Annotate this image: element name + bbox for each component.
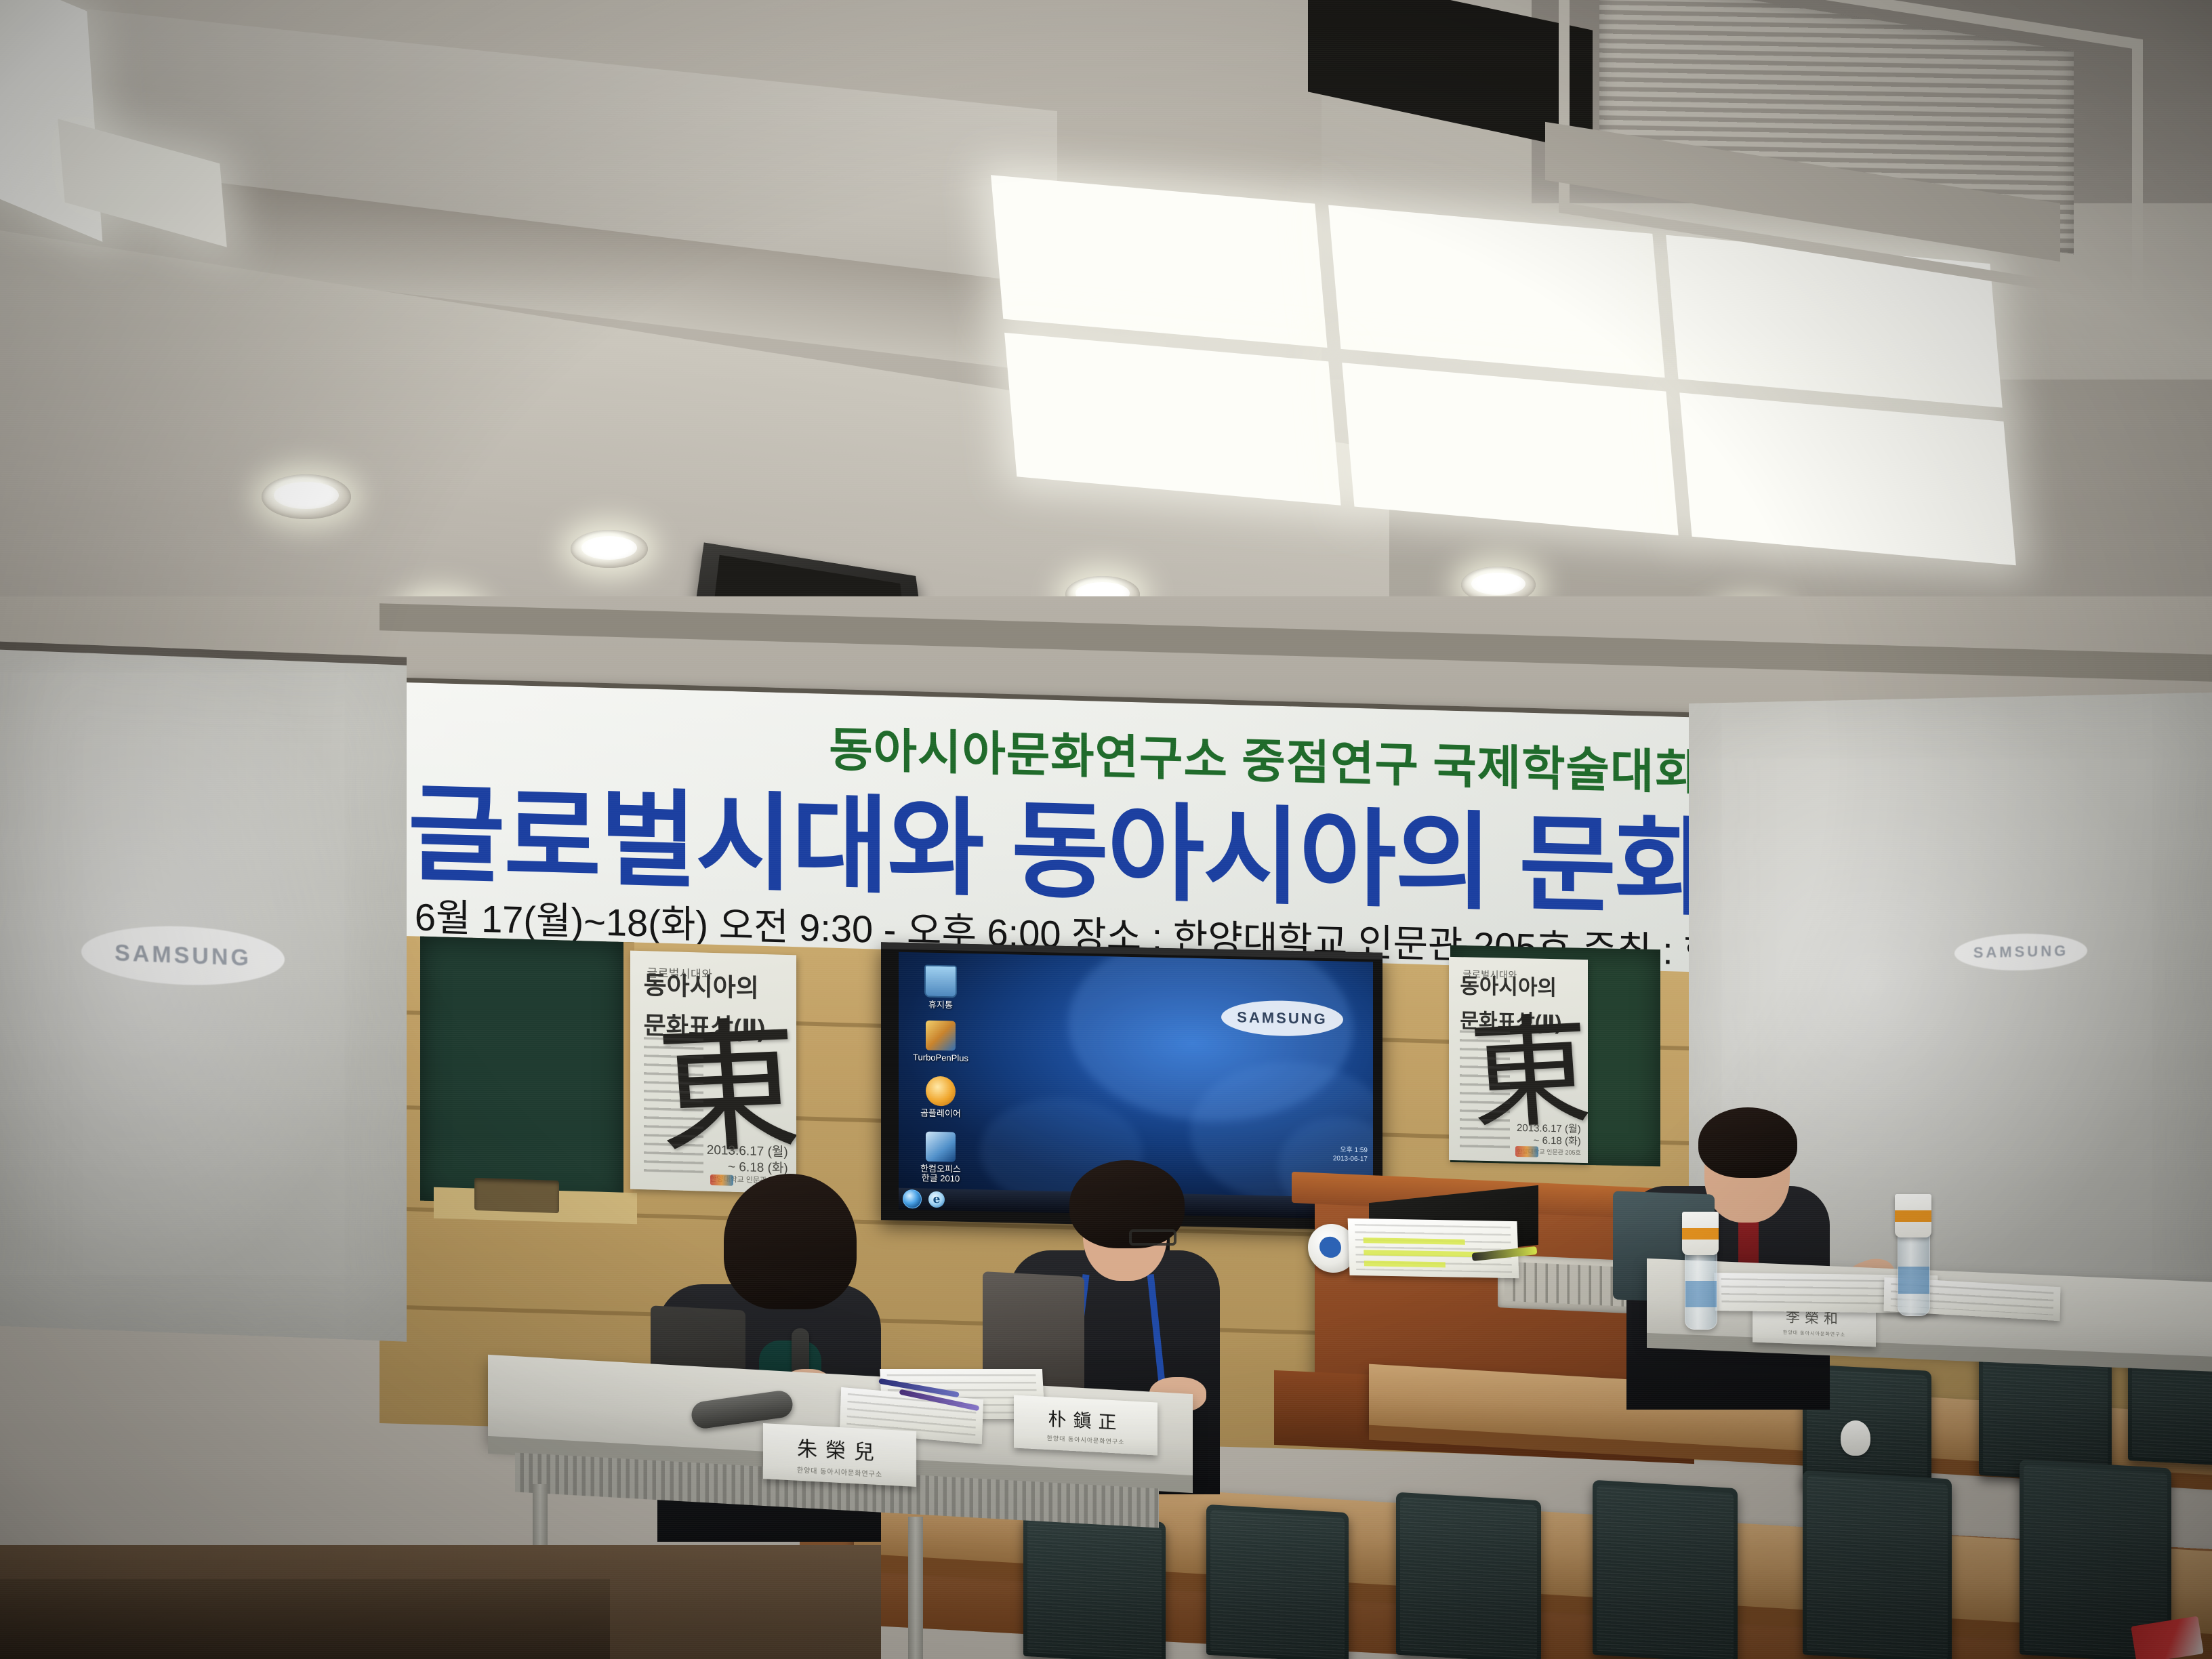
projection-screen-left: SAMSUNG — [0, 641, 407, 1341]
lecture-chair[interactable] — [1023, 1514, 1166, 1659]
podium-papers — [1348, 1218, 1519, 1278]
paper-cup[interactable] — [1682, 1212, 1719, 1255]
table-leg — [908, 1517, 923, 1659]
poster-title-line1: 동아시아의 — [1460, 975, 1557, 1000]
name-card-affiliation: 한양대 동아시아문화연구소 — [1783, 1329, 1845, 1338]
eyeglasses-icon — [1129, 1229, 1176, 1246]
desktop-icon-label: 곰플레이어 — [920, 1107, 961, 1118]
ceiling-panel-light — [1679, 392, 2015, 565]
water-bottle[interactable] — [1898, 1224, 1930, 1316]
desktop-icon-label: 한컴오피스 한글 2010 — [920, 1163, 961, 1184]
lecture-hall-photo: 동아시아문화연구소 중점연구 국제학술대회 글로벌시대와 동아시아의 문화표상(… — [0, 0, 2212, 1659]
ceiling-panel-light — [1004, 333, 1340, 506]
desktop-icon-hancom-hangul[interactable]: 한컴오피스 한글 2010 — [908, 1131, 973, 1185]
blackboard-left — [420, 937, 634, 1207]
name-card-affiliation: 한양대 동아시아문화연구소 — [1047, 1433, 1125, 1446]
desk-small-object — [1841, 1420, 1870, 1456]
person-hair — [724, 1174, 857, 1309]
desktop-icon-label: 휴지통 — [928, 1000, 953, 1010]
gom-player-icon — [926, 1076, 956, 1107]
ceiling-panel-light — [1328, 205, 1664, 377]
floor-foreground — [0, 1579, 610, 1659]
ceiling-panel-light — [1342, 363, 1678, 535]
desktop-icon-gom-player[interactable]: 곰플레이어 — [908, 1076, 973, 1119]
poster-title-line1: 동아시아의 — [644, 972, 759, 1002]
person-hair — [1698, 1107, 1797, 1178]
turbopenplus-icon — [926, 1021, 956, 1051]
hancom-hangul-icon — [926, 1132, 956, 1162]
name-card-name: 朴鎭正 — [1048, 1404, 1124, 1435]
poster-date: 2013.6.17 (월)~ 6.18 (화) — [707, 1143, 788, 1177]
lecture-chair[interactable] — [1396, 1492, 1541, 1659]
recessed-downlight-icon — [571, 530, 648, 568]
recycle-bin-icon — [924, 965, 957, 998]
name-card-affiliation: 한양대 동아시아문화연구소 — [797, 1464, 882, 1479]
paper-cup[interactable] — [1895, 1194, 1931, 1237]
recessed-downlight-icon — [262, 474, 351, 519]
name-card: 朱榮兒 한양대 동아시아문화연구소 — [763, 1423, 916, 1487]
event-poster: 글로벌시대와 동아시아의 문화표상(Ⅱ) 東 2013.6.17 (월)~ 6.… — [1449, 957, 1588, 1163]
lecture-chair[interactable] — [1803, 1470, 1952, 1659]
poster-sponsor-logo-icon — [710, 1174, 733, 1186]
chalk-basket — [474, 1178, 559, 1213]
start-orb-icon[interactable] — [903, 1189, 922, 1209]
desktop-icon-recycle-bin[interactable]: 휴지통 — [908, 964, 973, 1010]
poster-program-list — [644, 1037, 703, 1177]
system-tray-clock[interactable]: 오후 1:59 2013-06-17 — [1333, 1146, 1368, 1164]
tray-date: 2013-06-17 — [1333, 1155, 1368, 1163]
poster-date: 2013.6.17 (월)~ 6.18 (화) — [1517, 1122, 1581, 1148]
poster-sponsor-logo-icon — [1515, 1145, 1538, 1157]
poster-program-list — [1460, 1030, 1510, 1149]
lecture-chair[interactable] — [1593, 1480, 1738, 1659]
desktop-icon-label: TurboPenPlus — [913, 1052, 968, 1063]
lecture-chair[interactable] — [1206, 1504, 1349, 1659]
internet-explorer-icon[interactable]: e — [928, 1191, 945, 1208]
desktop-icon-turbopenplus[interactable]: TurboPenPlus — [908, 1020, 973, 1063]
event-poster: 글로벌시대와 동아시아의 문화표상(Ⅱ) 東 2013.6.17 (월)~ 6.… — [630, 951, 796, 1194]
name-card-name: 朱榮兒 — [797, 1431, 882, 1466]
tray-time: 오후 1:59 — [1340, 1146, 1368, 1154]
name-card: 朴鎭正 한양대 동아시아문화연구소 — [1014, 1395, 1158, 1455]
ceiling-panel-light — [991, 175, 1327, 348]
